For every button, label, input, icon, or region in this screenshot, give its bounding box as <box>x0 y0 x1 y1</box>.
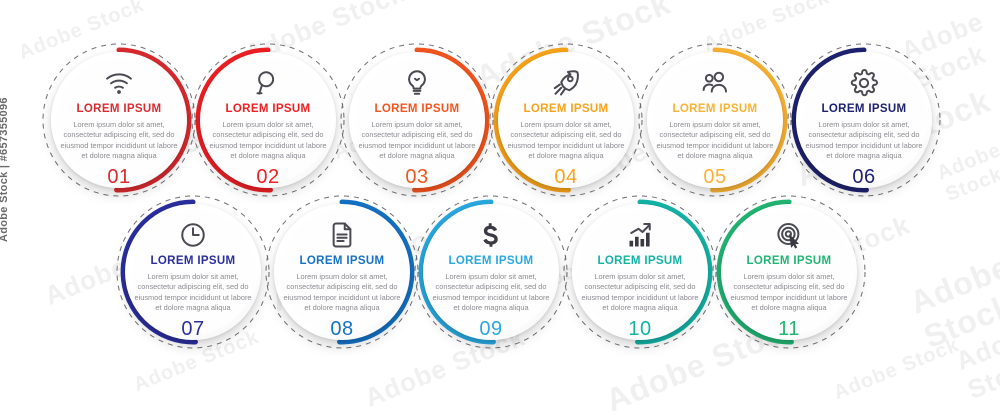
step-node-08[interactable]: LOREM IPSUMLorem ipsum dolor sit amet, c… <box>268 198 416 346</box>
step-description: Lorem ipsum dolor sit amet, consectetur … <box>730 272 848 314</box>
infographic-canvas: Adobe StockAdobe StockAdobe StockAdobe S… <box>0 0 1000 400</box>
step-number: 07 <box>181 319 204 339</box>
document-icon <box>327 220 357 250</box>
step-content: LOREM IPSUMLorem ipsum dolor sit amet, c… <box>566 198 714 346</box>
watermark-tile: Adobe Stock <box>934 139 1000 207</box>
step-description: Lorem ipsum dolor sit amet, consectetur … <box>209 120 327 162</box>
target-icon <box>774 220 804 250</box>
step-description: Lorem ipsum dolor sit amet, consectetur … <box>134 272 252 314</box>
magnifier-icon <box>253 68 283 98</box>
step-content: LOREM IPSUMLorem ipsum dolor sit amet, c… <box>417 198 565 346</box>
step-node-04[interactable]: LOREM IPSUMLorem ipsum dolor sit amet, c… <box>492 46 640 194</box>
step-node-01[interactable]: LOREM IPSUMLorem ipsum dolor sit amet, c… <box>45 46 193 194</box>
step-node-10[interactable]: LOREM IPSUMLorem ipsum dolor sit amet, c… <box>566 198 714 346</box>
rocket-icon <box>551 68 581 98</box>
step-node-07[interactable]: LOREM IPSUMLorem ipsum dolor sit amet, c… <box>119 198 267 346</box>
step-number: 08 <box>330 319 353 339</box>
step-content: LOREM IPSUMLorem ipsum dolor sit amet, c… <box>790 46 938 194</box>
step-description: Lorem ipsum dolor sit amet, consectetur … <box>432 272 550 314</box>
step-content: LOREM IPSUMLorem ipsum dolor sit amet, c… <box>343 46 491 194</box>
step-title: LOREM IPSUM <box>375 104 460 116</box>
step-number: 03 <box>405 167 428 187</box>
step-node-11[interactable]: LOREM IPSUMLorem ipsum dolor sit amet, c… <box>715 198 863 346</box>
step-content: LOREM IPSUMLorem ipsum dolor sit amet, c… <box>194 46 342 194</box>
step-number: 02 <box>256 167 279 187</box>
step-number: 04 <box>554 167 577 187</box>
step-description: Lorem ipsum dolor sit amet, consectetur … <box>358 120 476 162</box>
step-number: 11 <box>778 319 800 339</box>
step-description: Lorem ipsum dolor sit amet, consectetur … <box>656 120 774 162</box>
step-node-06[interactable]: LOREM IPSUMLorem ipsum dolor sit amet, c… <box>790 46 938 194</box>
step-title: LOREM IPSUM <box>747 256 832 268</box>
step-title: LOREM IPSUM <box>598 256 683 268</box>
step-content: LOREM IPSUMLorem ipsum dolor sit amet, c… <box>45 46 193 194</box>
bar-chart-growth-icon <box>625 220 655 250</box>
step-content: LOREM IPSUMLorem ipsum dolor sit amet, c… <box>641 46 789 194</box>
wifi-icon <box>104 68 134 98</box>
step-node-09[interactable]: LOREM IPSUMLorem ipsum dolor sit amet, c… <box>417 198 565 346</box>
step-number: 09 <box>479 319 502 339</box>
step-node-05[interactable]: LOREM IPSUMLorem ipsum dolor sit amet, c… <box>641 46 789 194</box>
dollar-icon <box>476 220 506 250</box>
step-content: LOREM IPSUMLorem ipsum dolor sit amet, c… <box>268 198 416 346</box>
users-icon <box>700 68 730 98</box>
step-title: LOREM IPSUM <box>77 104 162 116</box>
step-number: 05 <box>703 167 726 187</box>
stock-watermark-label: Adobe Stock | #657355096 <box>0 82 10 242</box>
step-description: Lorem ipsum dolor sit amet, consectetur … <box>60 120 178 162</box>
step-description: Lorem ipsum dolor sit amet, consectetur … <box>581 272 699 314</box>
step-title: LOREM IPSUM <box>822 104 907 116</box>
step-title: LOREM IPSUM <box>226 104 311 116</box>
step-number: 01 <box>107 167 130 187</box>
step-content: LOREM IPSUMLorem ipsum dolor sit amet, c… <box>119 198 267 346</box>
step-content: LOREM IPSUMLorem ipsum dolor sit amet, c… <box>492 46 640 194</box>
step-number: 06 <box>852 167 875 187</box>
clock-icon <box>178 220 208 250</box>
step-title: LOREM IPSUM <box>673 104 758 116</box>
step-node-02[interactable]: LOREM IPSUMLorem ipsum dolor sit amet, c… <box>194 46 342 194</box>
step-number: 10 <box>628 319 651 339</box>
step-description: Lorem ipsum dolor sit amet, consectetur … <box>507 120 625 162</box>
step-title: LOREM IPSUM <box>449 256 534 268</box>
step-title: LOREM IPSUM <box>300 256 385 268</box>
watermark-tile: Adobe Stock <box>952 316 1000 406</box>
step-title: LOREM IPSUM <box>524 104 609 116</box>
lightbulb-icon <box>402 68 432 98</box>
step-description: Lorem ipsum dolor sit amet, consectetur … <box>805 120 923 162</box>
step-title: LOREM IPSUM <box>151 256 236 268</box>
step-description: Lorem ipsum dolor sit amet, consectetur … <box>283 272 401 314</box>
gear-icon <box>849 68 879 98</box>
step-content: LOREM IPSUMLorem ipsum dolor sit amet, c… <box>715 198 863 346</box>
step-node-03[interactable]: LOREM IPSUMLorem ipsum dolor sit amet, c… <box>343 46 491 194</box>
watermark-tile: Adobe Stock <box>905 248 1000 356</box>
